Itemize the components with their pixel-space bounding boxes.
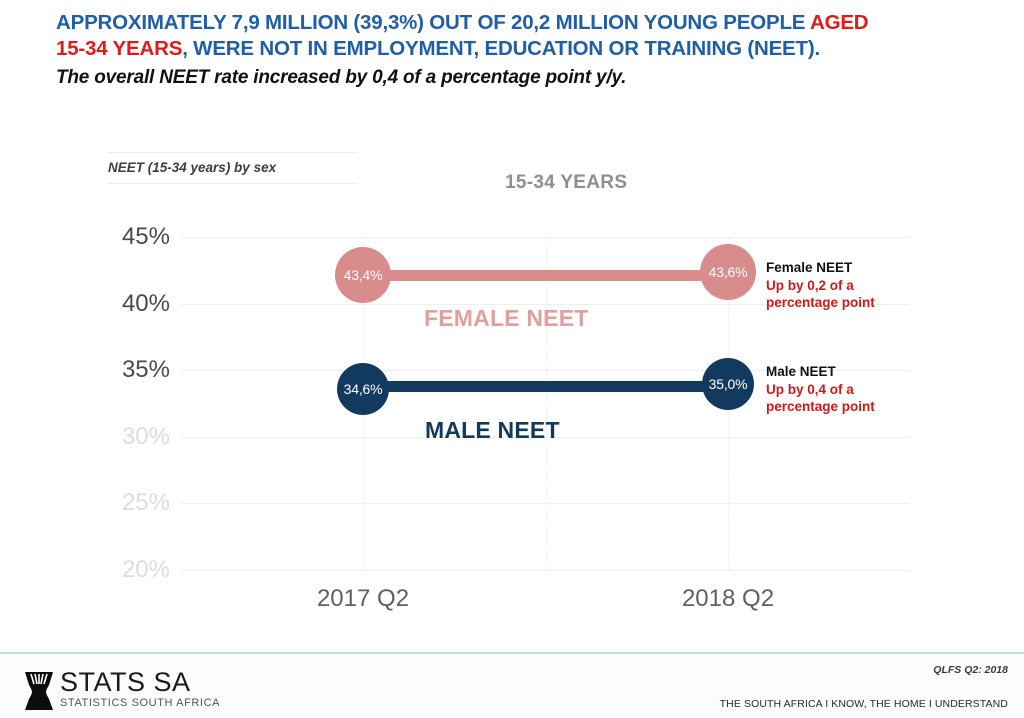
y-axis-tick-45: 45%	[122, 223, 170, 251]
series-label-female: FEMALE NEET	[424, 305, 588, 332]
gridline-horizontal-20	[181, 570, 910, 571]
x-axis-tick-2018q2: 2018 Q2	[682, 585, 774, 613]
plot-area: 43,4% 43,6% FEMALE NEET 34,6% 35,0% MALE…	[181, 237, 910, 570]
chart-panel-title-container: NEET (15-34 years) by sex	[108, 152, 358, 184]
chart-panel: NEET (15-34 years) by sex 15-34 YEARS 45…	[0, 130, 1024, 640]
headline-line-2-emphasis: 15-34 YEARS	[56, 37, 182, 60]
headline-subtitle: The overall NEET rate increased by 0,4 o…	[56, 67, 1006, 89]
headline-line-2: 15-34 YEARS, WERE NOT IN EMPLOYMENT, EDU…	[56, 36, 1006, 62]
y-axis-tick-40: 40%	[122, 290, 170, 318]
annotation-female-title: Female NEET	[766, 259, 916, 277]
headline-line-2-text: , WERE NOT IN EMPLOYMENT, EDUCATION OR T…	[182, 37, 820, 60]
data-point-female-2018q2[interactable]: 43,6%	[700, 244, 756, 300]
stats-sa-logo: STATS SA STATISTICS SOUTH AFRICA	[22, 668, 220, 718]
data-point-female-2018q2-label: 43,6%	[709, 264, 748, 280]
annotation-female-sub-line2: percentage point	[766, 294, 916, 312]
headline-line-1-text: APPROXIMATELY 7,9 MILLION (39,3%) OUT OF…	[56, 11, 810, 34]
data-point-male-2018q2[interactable]: 35,0%	[702, 358, 754, 410]
headline-line-1: APPROXIMATELY 7,9 MILLION (39,3%) OUT OF…	[56, 10, 1006, 36]
annotation-male-sub-line1: Up by 0,4 of a	[766, 381, 916, 399]
data-point-female-2017q2-label: 43,4%	[344, 267, 383, 283]
footer-tagline: THE SOUTH AFRICA I KNOW, THE HOME I UNDE…	[720, 698, 1008, 710]
annotation-female: Female NEET Up by 0,2 of a percentage po…	[766, 259, 916, 312]
y-axis-tick-25: 25%	[122, 489, 170, 517]
logo-text: STATS SA STATISTICS SOUTH AFRICA	[60, 668, 220, 709]
y-axis-tick-30: 30%	[122, 423, 170, 451]
x-axis-tick-2017q2: 2017 Q2	[317, 585, 409, 613]
headline-line-1-emphasis: AGED	[810, 11, 868, 34]
series-label-male: MALE NEET	[425, 417, 560, 444]
annotation-male: Male NEET Up by 0,4 of a percentage poin…	[766, 363, 916, 416]
data-point-male-2017q2[interactable]: 34,6%	[337, 363, 389, 415]
y-axis-tick-35: 35%	[122, 356, 170, 384]
headline-block: APPROXIMATELY 7,9 MILLION (39,3%) OUT OF…	[56, 10, 1006, 89]
data-point-female-2017q2[interactable]: 43,4%	[335, 247, 391, 303]
logo-main-text: STATS SA	[60, 668, 220, 696]
logo-sub-text: STATISTICS SOUTH AFRICA	[60, 697, 220, 709]
x-axis: 2017 Q2 2018 Q2	[181, 585, 910, 625]
source-reference: QLFS Q2: 2018	[933, 664, 1008, 676]
chart-heading: 15-34 YEARS	[505, 172, 627, 194]
gridline-vertical-mid	[546, 237, 547, 570]
series-line-male	[363, 381, 728, 392]
footer: STATS SA STATISTICS SOUTH AFRICA QLFS Q2…	[0, 654, 1024, 718]
annotation-female-sub-line1: Up by 0,2 of a	[766, 277, 916, 295]
drum-icon	[22, 669, 56, 718]
data-point-male-2018q2-label: 35,0%	[709, 376, 748, 392]
annotation-male-title: Male NEET	[766, 363, 916, 381]
y-axis: 45% 40% 35% 30% 25% 20%	[100, 237, 170, 570]
data-point-male-2017q2-label: 34,6%	[344, 381, 383, 397]
series-line-female	[363, 270, 728, 281]
chart-panel-title: NEET (15-34 years) by sex	[108, 160, 358, 175]
y-axis-tick-20: 20%	[122, 556, 170, 584]
annotation-male-sub-line2: percentage point	[766, 398, 916, 416]
